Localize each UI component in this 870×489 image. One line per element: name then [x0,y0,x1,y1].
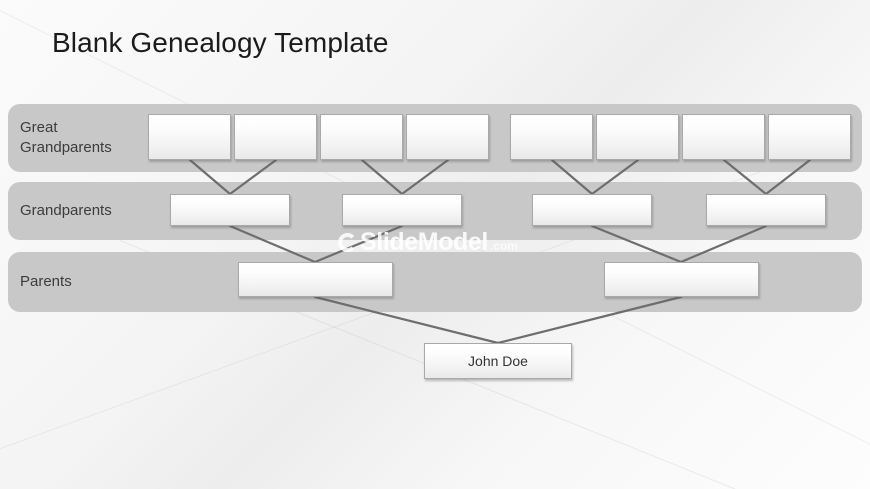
generation-label-great-grandparents: Great Grandparents [20,118,112,158]
generation-label-grandparents: Grandparents [20,201,112,221]
empty-person-box-gp2[interactable] [342,194,462,226]
empty-person-box-gp1[interactable] [170,194,290,226]
generation-label-parents: Parents [20,272,72,292]
empty-person-box-gg4[interactable] [406,114,489,160]
empty-person-box-gp4[interactable] [706,194,826,226]
empty-person-box-pa1[interactable] [238,262,393,297]
empty-person-box-pa2[interactable] [604,262,759,297]
empty-person-box-gg6[interactable] [596,114,679,160]
empty-person-box-gg1[interactable] [148,114,231,160]
empty-person-box-gg5[interactable] [510,114,593,160]
page-title: Blank Genealogy Template [52,27,389,59]
empty-person-box-gg8[interactable] [768,114,851,160]
empty-person-box-gg3[interactable] [320,114,403,160]
background-diagonal-line [0,0,870,489]
connector-lines [0,0,870,489]
empty-person-box-gp3[interactable] [532,194,652,226]
empty-person-box-gg2[interactable] [234,114,317,160]
empty-person-box-gg7[interactable] [682,114,765,160]
watermark-tld: .com [490,239,518,253]
person-box-self1[interactable]: John Doe [424,343,572,379]
slide-canvas: Blank Genealogy Template Great Grandpare… [0,0,870,489]
